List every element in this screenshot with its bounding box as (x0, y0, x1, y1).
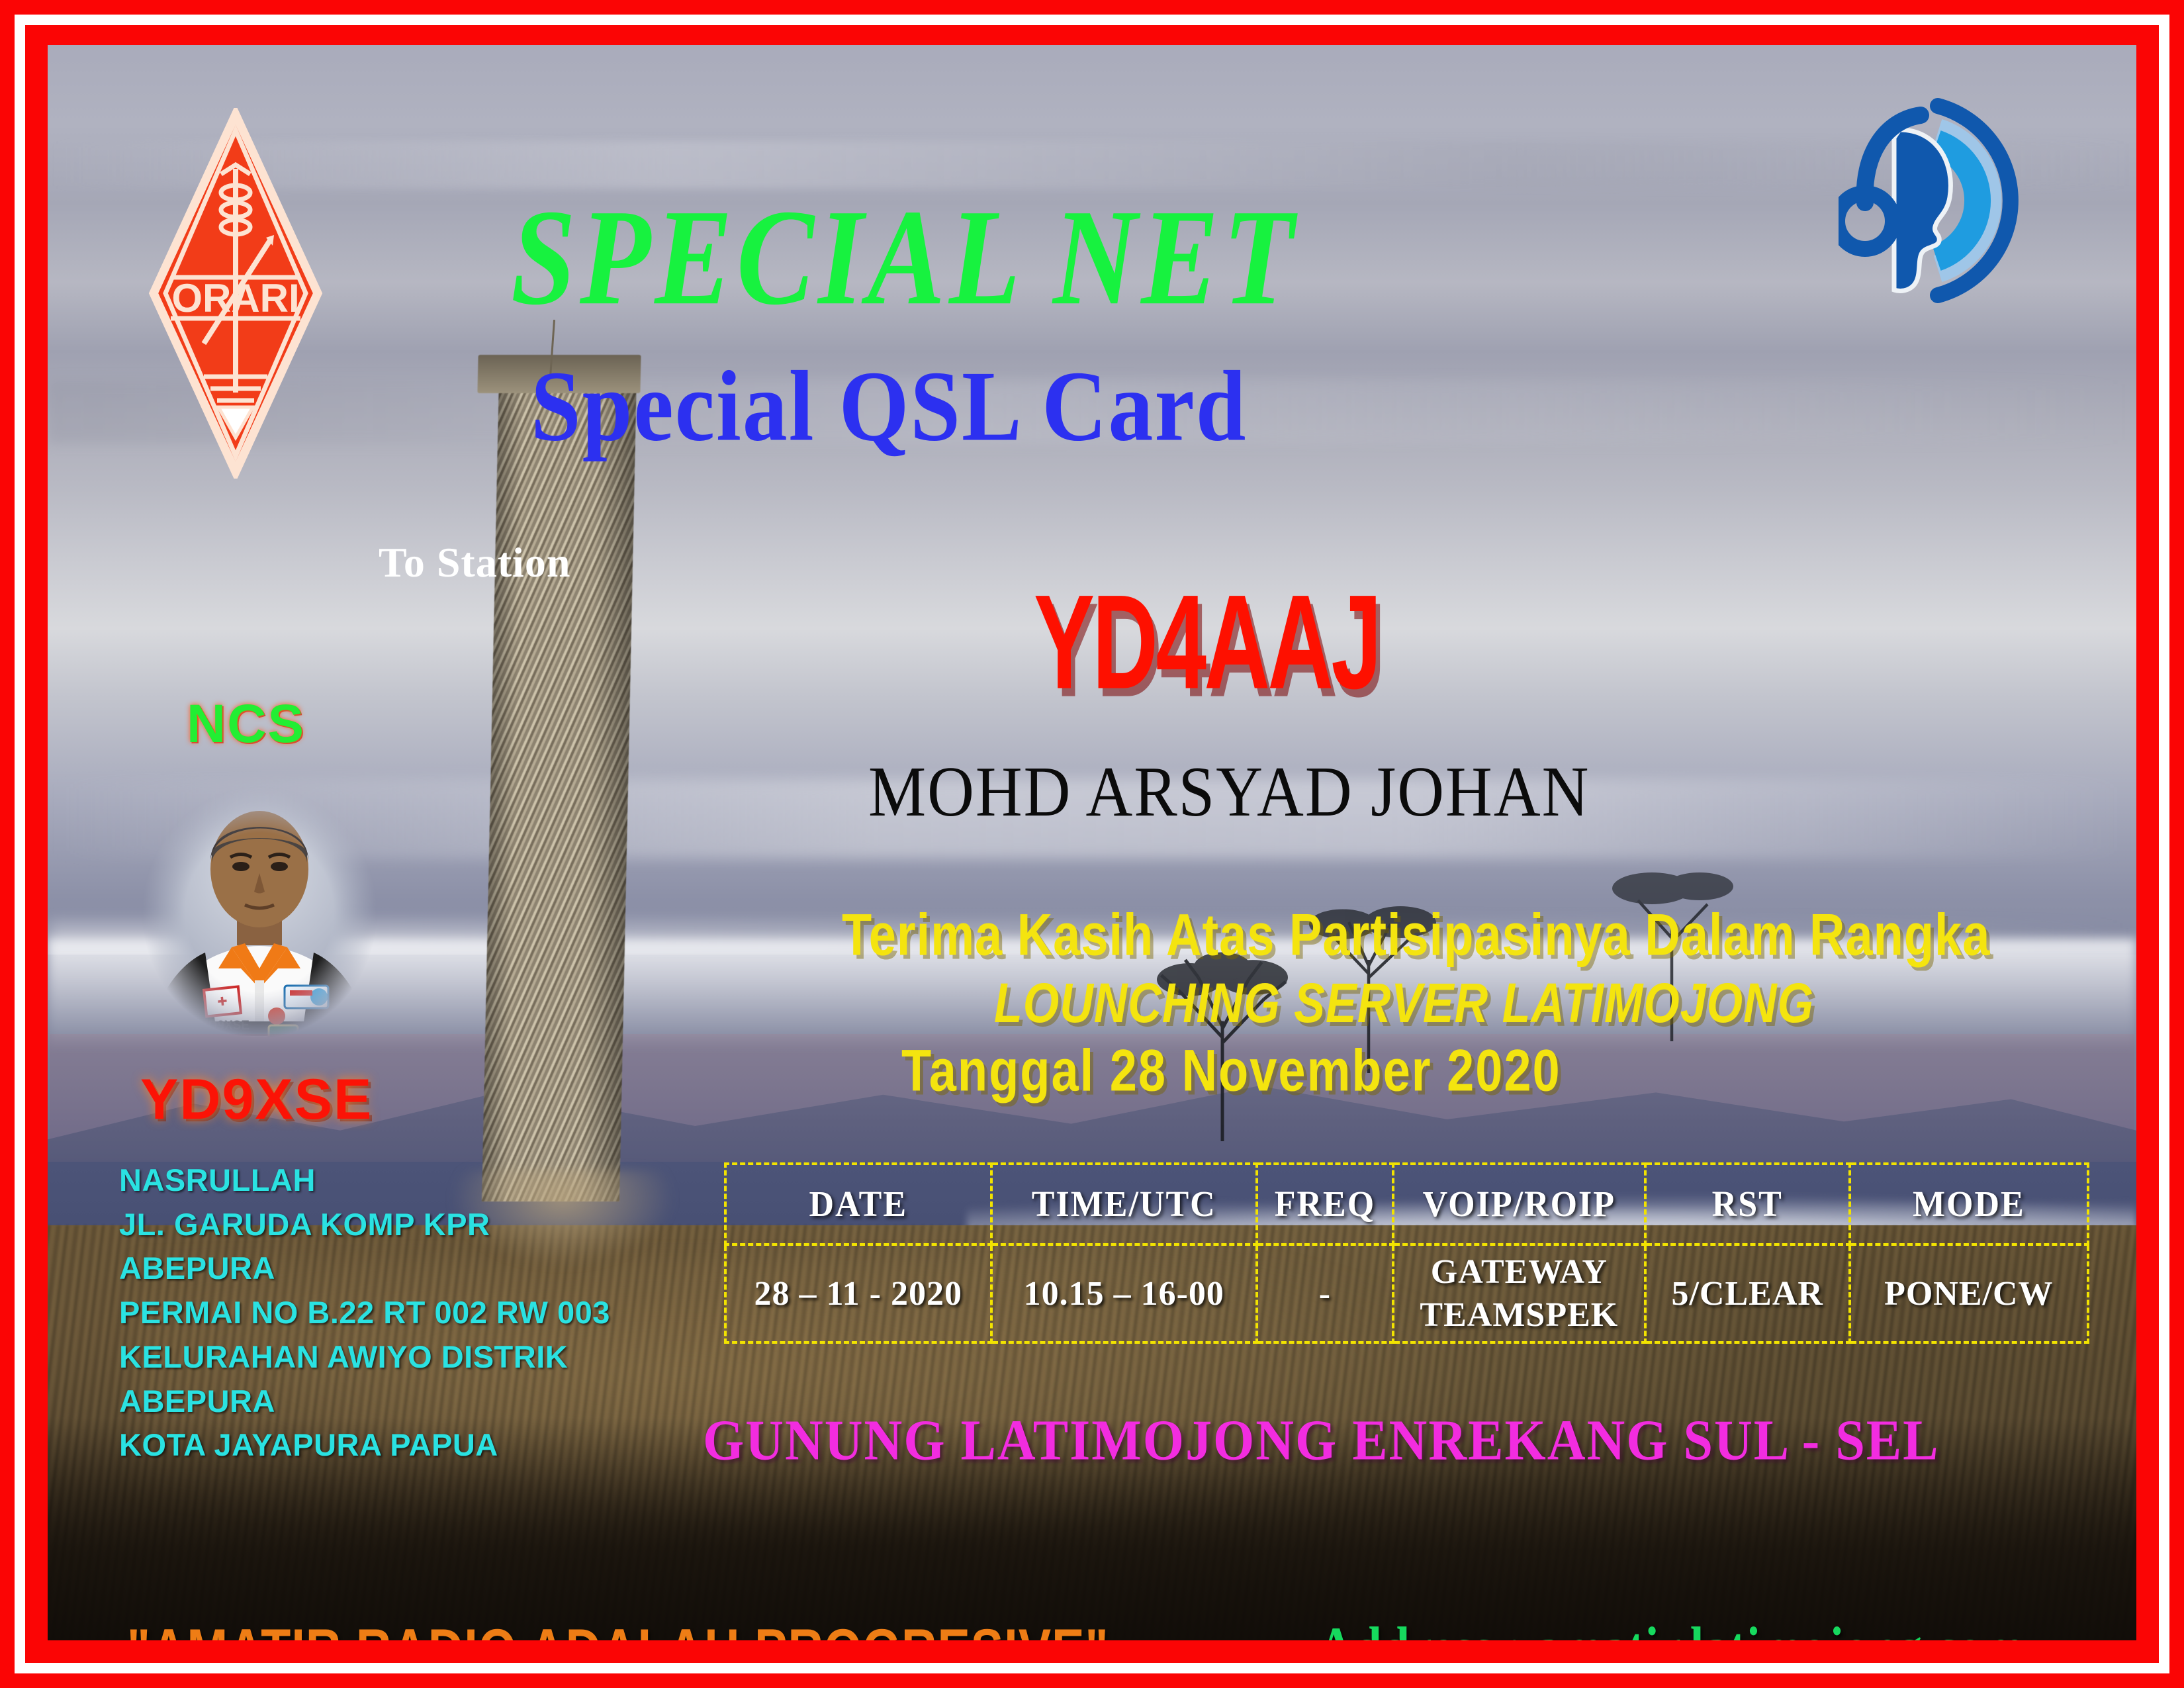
station-callsign: YD4AAJ (1034, 575, 1379, 709)
footer-web-address: Address : amatir.latimojong.com (1318, 1619, 2025, 1640)
orari-wordmark: ORARI (171, 276, 299, 320)
table-header-row: DATE TIME/UTC FREQ VOIP/ROIP RST MODE (725, 1164, 2088, 1244)
cell-rst: 5/CLEAR (1645, 1244, 1850, 1342)
event-line-2: LOUNCHING SERVER LATIMOJONG (994, 975, 1814, 1031)
address-line: JL. GARUDA KOMP KPR (119, 1203, 662, 1247)
headset-profile-icon (1839, 91, 2064, 310)
table-row: 28 – 11 - 2020 10.15 – 16-00 - GATEWAY T… (725, 1244, 2088, 1342)
page-title: SPECIAL NET (511, 189, 1298, 327)
sender-address-block: NASRULLAH JL. GARUDA KOMP KPR ABEPURA PE… (119, 1158, 662, 1468)
card-photo-area: ORARI (48, 45, 2136, 1640)
address-line: ABEPURA (119, 1246, 662, 1291)
column-header-time: TIME/UTC (991, 1162, 1257, 1246)
column-header-date: DATE (725, 1162, 991, 1246)
column-header-freq: FREQ (1257, 1162, 1393, 1246)
svg-text:✚: ✚ (216, 994, 228, 1008)
address-line: KOTA JAYAPURA PAPUA (119, 1423, 662, 1468)
ncs-label: NCS (187, 697, 305, 751)
page-subtitle: Special QSL Card (531, 356, 1247, 457)
operator-name: MOHD ARSYAD JOHAN (868, 757, 1590, 828)
column-header-mode: MODE (1850, 1162, 2088, 1246)
stone-monument (482, 372, 637, 1201)
event-line-1: Terima Kasih Atas Partisipasinya Dalam R… (842, 906, 1990, 964)
qso-log-table: DATE TIME/UTC FREQ VOIP/ROIP RST MODE 28… (724, 1162, 2089, 1344)
address-line: KELURAHAN AWIYO DISTRIK (119, 1335, 662, 1380)
ncs-portrait-photo: ✚ YD9XSE (120, 770, 398, 1055)
footer-motto: "AMATIR RADIO ADALAH PROGRESIVE" (127, 1620, 1109, 1640)
address-line: NASRULLAH (119, 1158, 662, 1203)
cell-date: 28 – 11 - 2020 (725, 1244, 991, 1342)
location-caption: GUNUNG LATIMOJONG ENREKANG SUL - SEL (703, 1412, 1940, 1469)
address-line: ABEPURA (119, 1380, 662, 1424)
to-station-label: To Station (379, 541, 570, 584)
cell-time: 10.15 – 16-00 (991, 1244, 1257, 1342)
cell-voip: GATEWAY TEAMSPEK (1393, 1244, 1645, 1342)
address-line: PERMAI NO B.22 RT 002 RW 003 (119, 1291, 662, 1335)
column-header-rst: RST (1645, 1162, 1850, 1246)
qsl-card: ORARI (0, 0, 2184, 1688)
column-header-voip: VOIP/ROIP (1393, 1162, 1645, 1246)
event-line-3: Tanggal 28 November 2020 (901, 1041, 1561, 1100)
cell-freq: - (1257, 1244, 1393, 1342)
ncs-callsign: YD9XSE (140, 1071, 373, 1128)
cell-mode: PONE/CW (1850, 1244, 2088, 1342)
orari-logo: ORARI (147, 108, 324, 479)
uniform-callsign-text: YD9XSE (200, 1019, 250, 1033)
